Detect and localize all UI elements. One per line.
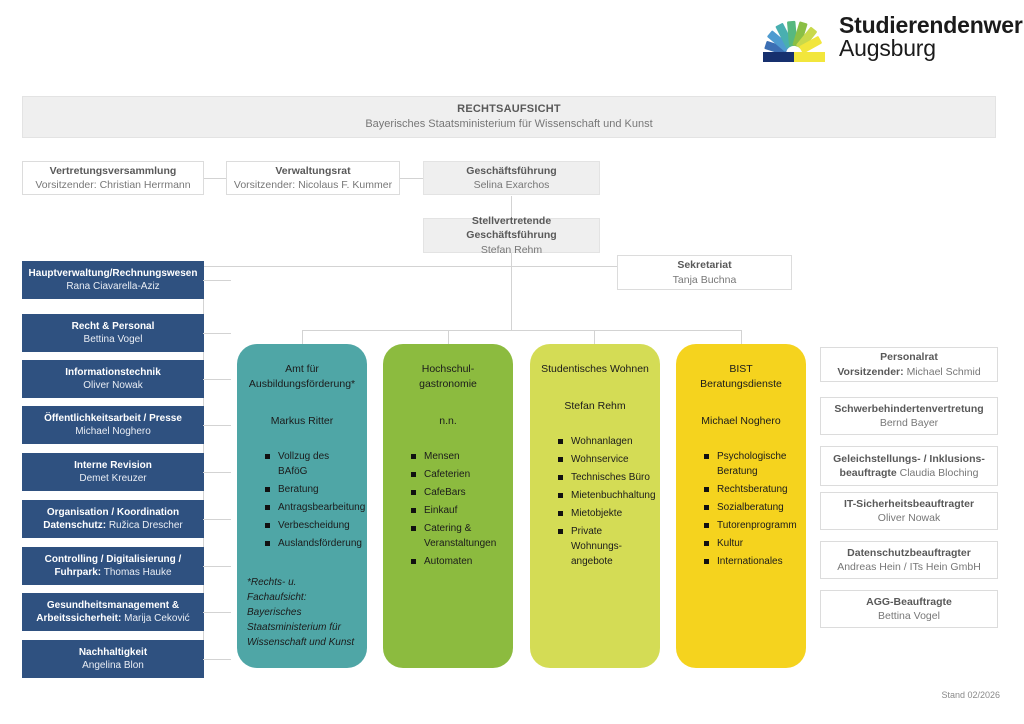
governance-box-geschaeftsfuehrung: Geschäftsführung Selina Exarchos (423, 161, 600, 195)
department-person: Rana Ciavarella-Aziz (66, 280, 159, 294)
governance-person: Selina Exarchos (474, 178, 550, 192)
pillar-title: Hochschul- gastronomie (393, 362, 503, 392)
secretariat-box: Sekretariat Tanja Buchna (617, 255, 792, 290)
officer-title: IT-Sicherheitsbeauftragter (844, 497, 974, 511)
department-subtitle-person: Arbeitssicherheit: Marija Ceković (36, 612, 189, 626)
connector-bus-secretariat (203, 266, 618, 267)
pillar-task-list: Vollzug des BAföG Beratung Antragsbearbe… (247, 449, 357, 551)
governance-title: Geschäftsführung (466, 164, 556, 178)
pillar-person: n.n. (393, 414, 503, 429)
department-title: Informationstechnik (65, 366, 161, 380)
department-person: Bettina Vogel (84, 333, 143, 347)
officer-subtitle-person: Vorsitzender: Michael Schmid (837, 365, 980, 379)
officer-title: Geleichstellungs- / Inklusions- (833, 452, 985, 466)
division-pillar-ausbildungsfoerderung: Amt für Ausbildungsförderung* Markus Rit… (237, 344, 367, 668)
department-title: Recht & Personal (72, 320, 155, 334)
department-box-informationstechnik: Informationstechnik Oliver Nowak (22, 360, 204, 398)
governance-person: Vorsitzender: Nicolaus F. Kummer (234, 178, 392, 192)
department-subtitle-person: Datenschutz: Ružica Drescher (43, 519, 183, 533)
pillar-task-item: Technisches Büro (558, 470, 650, 485)
department-title: Organisation / Koordination (47, 506, 179, 520)
studierendenwerk-fan-logo (755, 14, 833, 64)
rechtsaufsicht-box: RECHTSAUFSICHT Bayerisches Staatsministe… (22, 96, 996, 138)
department-title: Interne Revision (74, 459, 152, 473)
pillar-task-item: Wohnservice (558, 452, 650, 467)
connector-vr-gf (399, 178, 423, 179)
brand-logo: Studierendenwerk Augsburg (755, 14, 1005, 66)
pillar-task-item: Mensen (411, 449, 503, 464)
connector-dept-7 (203, 566, 231, 567)
officer-box-gleichstellungsbeauftragte: Geleichstellungs- / Inklusions- beauftra… (820, 446, 998, 486)
connector-dept-9 (203, 659, 231, 660)
officer-title: Datenschutzbeauftragter (847, 546, 971, 560)
officer-box-datenschutzbeauftragter: Datenschutzbeauftragter Andreas Hein / I… (820, 541, 998, 579)
pillar-task-item: Mietenbuchhaltung (558, 488, 650, 503)
connector-dept-6 (203, 519, 231, 520)
governance-title: Vertretungsversammlung (50, 164, 177, 178)
department-box-organisation-koordination: Organisation / Koordination Datenschutz:… (22, 500, 204, 538)
department-box-interne-revision: Interne Revision Demet Kreuzer (22, 453, 204, 491)
pillar-task-item: Catering & Veranstaltungen (411, 521, 503, 551)
officer-person: Bernd Bayer (880, 416, 938, 430)
division-pillar-studentisches-wohnen: Studentisches Wohnen Stefan Rehm Wohnanl… (530, 344, 660, 668)
department-subtitle-person: Fuhrpark: Thomas Hauke (54, 566, 171, 580)
pillar-task-item: Kultur (704, 536, 796, 551)
department-box-hauptverwaltung: Hauptverwaltung/Rechnungswesen Rana Ciav… (22, 261, 204, 299)
connector-dept-2 (203, 333, 231, 334)
governance-title: Verwaltungsrat (275, 164, 350, 178)
department-box-recht-personal: Recht & Personal Bettina Vogel (22, 314, 204, 352)
officer-title: Personalrat (880, 350, 938, 364)
pillar-task-item: Tutorenprogramm (704, 518, 796, 533)
officer-person: Oliver Nowak (878, 511, 940, 525)
department-box-controlling-digitalisierung: Controlling / Digitalisierung / Fuhrpark… (22, 547, 204, 585)
pillar-person: Stefan Rehm (540, 399, 650, 414)
officer-person: Andreas Hein / ITs Hein GmbH (837, 560, 981, 574)
division-pillar-hochschulgastronomie: Hochschul- gastronomie n.n. Mensen Cafet… (383, 344, 513, 668)
pillar-task-item: Vollzug des BAföG (265, 449, 357, 479)
department-title: Öffentlichkeitsarbeit / Presse (44, 412, 182, 426)
connector-deputy-down (511, 253, 512, 330)
pillar-task-item: Rechtsberatung (704, 482, 796, 497)
department-box-nachhaltigkeit: Nachhaltigkeit Angelina Blon (22, 640, 204, 678)
connector-dept-3 (203, 379, 231, 380)
pillar-title: BIST Beratungsdienste (686, 362, 796, 392)
officer-box-schwerbehindertenvertretung: Schwerbehindertenvertretung Bernd Bayer (820, 397, 998, 435)
pillar-task-item: Wohnanlagen (558, 434, 650, 449)
department-box-gesundheitsmanagement: Gesundheitsmanagement & Arbeitssicherhei… (22, 593, 204, 631)
rechtsaufsicht-title: RECHTSAUFSICHT (457, 102, 561, 117)
officer-title: AGG-Beauftragte (866, 595, 952, 609)
pillar-title: Amt für Ausbildungsförderung* (247, 362, 357, 392)
connector-dept-8 (203, 612, 231, 613)
department-person: Angelina Blon (82, 659, 144, 673)
connector-dept-4 (203, 425, 231, 426)
pillar-task-item: Private Wohnungs- angebote (558, 524, 650, 569)
secretariat-title: Sekretariat (677, 258, 731, 272)
officer-title: Schwerbehindertenvertretung (834, 402, 983, 416)
brand-wordmark: Studierendenwerk Augsburg (839, 14, 1024, 61)
governance-person: Vorsitzender: Christian Herrmann (35, 178, 190, 192)
department-box-oeffentlichkeitsarbeit: Öffentlichkeitsarbeit / Presse Michael N… (22, 406, 204, 444)
officer-box-it-sicherheitsbeauftragter: IT-Sicherheitsbeauftragter Oliver Nowak (820, 492, 998, 530)
pillar-task-item: Cafeterien (411, 467, 503, 482)
department-person: Demet Kreuzer (79, 472, 146, 486)
brand-line-1: Studierendenwerk (839, 14, 1024, 37)
deputy-management-box: Stellvertretende Geschäftsführung Stefan… (423, 218, 600, 253)
pillar-task-item: Verbescheidung (265, 518, 357, 533)
department-person: Oliver Nowak (83, 379, 142, 393)
governance-box-vertretungsversammlung: Vertretungsversammlung Vorsitzender: Chr… (22, 161, 204, 195)
pillar-person: Michael Noghero (686, 414, 796, 429)
rechtsaufsicht-subtitle: Bayerisches Staatsministerium für Wissen… (365, 117, 652, 132)
department-title: Gesundheitsmanagement & (47, 599, 179, 613)
pillar-person: Markus Ritter (247, 414, 357, 429)
pillar-task-item: Einkauf (411, 503, 503, 518)
pillar-task-item: CafeBars (411, 485, 503, 500)
pillar-task-item: Auslandsförderung (265, 536, 357, 551)
officer-subtitle-person: beauftragte Claudia Bloching (840, 466, 979, 480)
department-title: Controlling / Digitalisierung / (45, 553, 182, 567)
pillar-task-item: Mietobjekte (558, 506, 650, 521)
connector-dept-1 (203, 280, 231, 281)
pillar-task-item: Sozialberatung (704, 500, 796, 515)
pillar-title: Studentisches Wohnen (540, 362, 650, 377)
pillar-footnote: *Rechts- u. Fachaufsicht: Bayerisches St… (247, 575, 357, 650)
division-pillar-bist-beratungsdienste: BIST Beratungsdienste Michael Noghero Ps… (676, 344, 806, 668)
deputy-person: Stefan Rehm (481, 243, 542, 257)
org-chart-canvas: Studierendenwerk Augsburg RECHTSAUFSICHT… (0, 0, 1024, 724)
pillar-task-item: Antragsbearbeitung (265, 500, 357, 515)
pillar-task-list: Mensen Cafeterien CafeBars Einkauf Cater… (393, 449, 503, 569)
department-person: Michael Noghero (75, 425, 151, 439)
pillar-task-item: Automaten (411, 554, 503, 569)
officer-box-personalrat: Personalrat Vorsitzender: Michael Schmid (820, 347, 998, 382)
deputy-title: Stellvertretende Geschäftsführung (430, 214, 593, 242)
connector-bus-pillars (302, 330, 742, 331)
department-title: Nachhaltigkeit (79, 646, 147, 660)
connector-vv-vr (204, 178, 226, 179)
pillar-task-list: Wohnanlagen Wohnservice Technisches Büro… (540, 434, 650, 569)
officer-person: Bettina Vogel (878, 609, 940, 623)
connector-dept-5 (203, 472, 231, 473)
pillar-task-item: Beratung (265, 482, 357, 497)
brand-line-2: Augsburg (839, 37, 1024, 60)
governance-box-verwaltungsrat: Verwaltungsrat Vorsitzender: Nicolaus F.… (226, 161, 400, 195)
stand-date-label: Stand 02/2026 (941, 690, 1000, 700)
officer-box-agg-beauftragte: AGG-Beauftragte Bettina Vogel (820, 590, 998, 628)
secretariat-person: Tanja Buchna (673, 273, 737, 287)
pillar-task-item: Internationales (704, 554, 796, 569)
pillar-task-item: Psychologische Beratung (704, 449, 796, 479)
pillar-task-list: Psychologische Beratung Rechtsberatung S… (686, 449, 796, 569)
department-title: Hauptverwaltung/Rechnungswesen (29, 267, 198, 281)
